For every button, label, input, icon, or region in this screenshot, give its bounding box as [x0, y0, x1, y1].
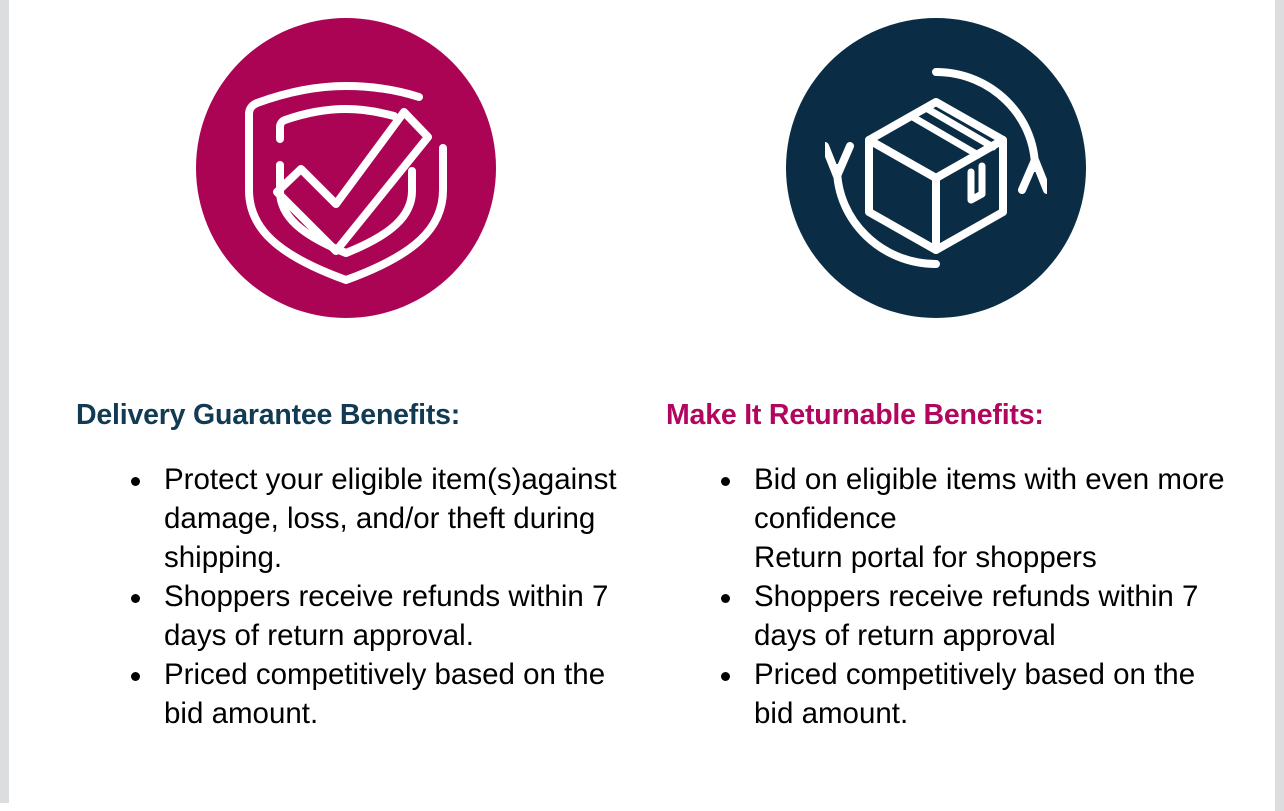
list-item: Priced competitively based on the bid am…	[666, 655, 1226, 733]
benefits-columns: Delivery Guarantee Benefits: Protect you…	[9, 398, 1275, 798]
delivery-guarantee-column: Delivery Guarantee Benefits: Protect you…	[76, 398, 636, 733]
bullet-dot-icon	[721, 477, 730, 486]
bullet-subline: Return portal for shoppers	[754, 538, 1226, 577]
delivery-guarantee-bullet-list: Protect your eligible item(s)against dam…	[76, 460, 636, 733]
bullet-text: Shoppers receive refunds within 7 days o…	[754, 577, 1226, 655]
shield-check-icon	[239, 52, 453, 284]
make-it-returnable-icon-badge	[786, 18, 1086, 318]
make-it-returnable-column: Make It Returnable Benefits: Bid on elig…	[666, 398, 1226, 733]
bullet-dot-icon	[131, 672, 140, 681]
make-it-returnable-heading: Make It Returnable Benefits:	[666, 398, 1226, 432]
delivery-guarantee-heading: Delivery Guarantee Benefits:	[76, 398, 636, 432]
delivery-guarantee-icon-badge	[196, 18, 496, 318]
bullet-text: Shoppers receive refunds within 7 days o…	[164, 577, 636, 655]
list-item: Priced competitively based on the bid am…	[76, 655, 636, 733]
bullet-text: Priced competitively based on the bid am…	[754, 655, 1226, 733]
icon-row	[9, 0, 1275, 340]
bullet-dot-icon	[721, 594, 730, 603]
bullet-text: Protect your eligible item(s)against dam…	[164, 460, 636, 577]
bullet-dot-icon	[721, 672, 730, 681]
list-item: Shoppers receive refunds within 7 days o…	[666, 577, 1226, 655]
bullet-text: Priced competitively based on the bid am…	[164, 655, 636, 733]
list-item: Shoppers receive refunds within 7 days o…	[76, 577, 636, 655]
make-it-returnable-bullet-list: Bid on eligible items with even more con…	[666, 460, 1226, 733]
page-edge-strip-left	[0, 0, 9, 803]
bullet-text: Bid on eligible items with even more con…	[754, 460, 1226, 538]
list-item: Bid on eligible items with even more con…	[666, 460, 1226, 577]
bullet-dot-icon	[131, 594, 140, 603]
list-item: Protect your eligible item(s)against dam…	[76, 460, 636, 577]
return-box-arrows-icon	[825, 60, 1047, 276]
page-edge-strip-right	[1275, 0, 1284, 811]
bullet-dot-icon	[131, 477, 140, 486]
slide-canvas: Delivery Guarantee Benefits: Protect you…	[9, 0, 1275, 811]
